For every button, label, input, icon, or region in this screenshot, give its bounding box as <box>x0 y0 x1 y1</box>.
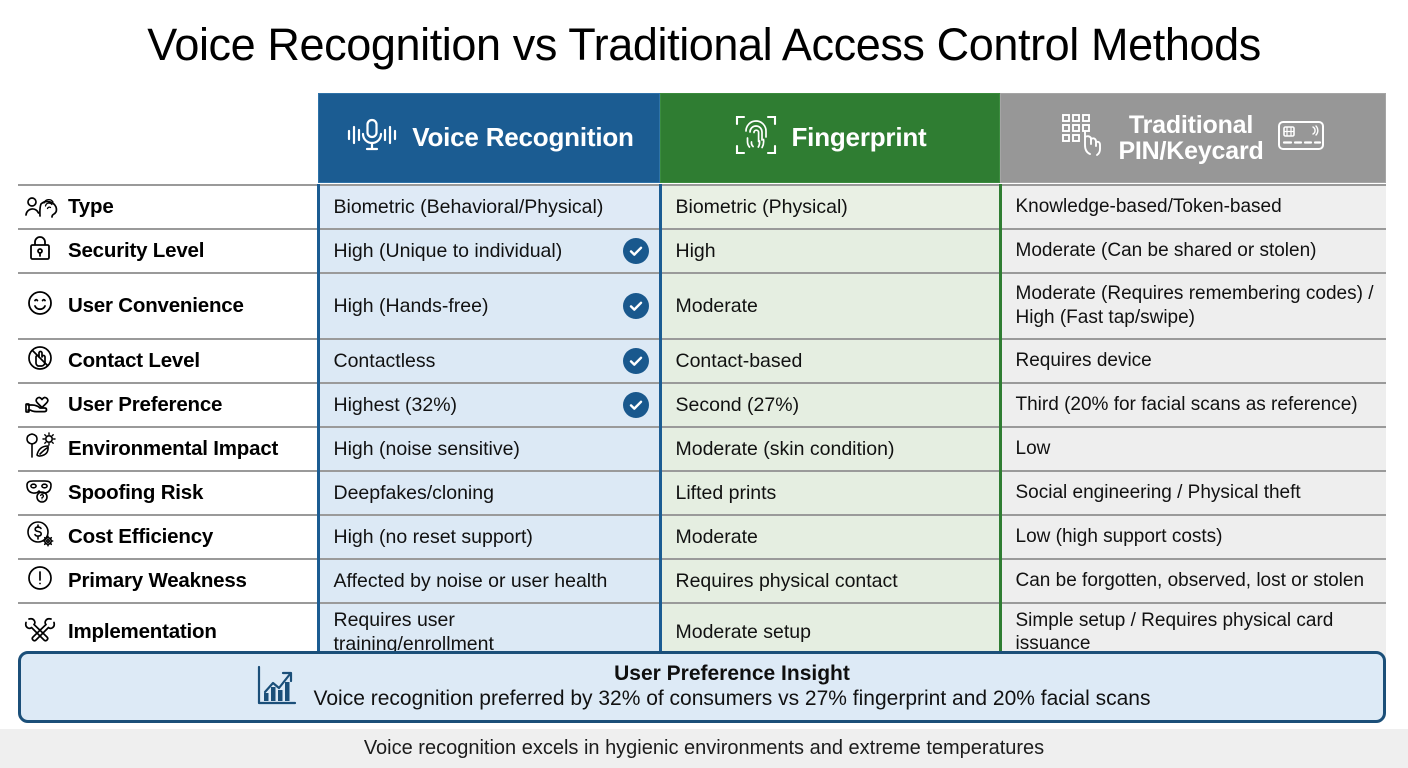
comparison-table-wrapper: Voice Recognition <box>18 92 1386 663</box>
fingerprint-scan-icon <box>733 112 779 165</box>
cell-text: Can be forgotten, observed, lost or stol… <box>1016 570 1365 591</box>
row-label: Environmental Impact <box>68 437 278 461</box>
row-label: Security Level <box>68 239 204 263</box>
cell-traditional: Low <box>1000 427 1386 471</box>
cell-text: Moderate (skin condition) <box>676 438 895 460</box>
user-preference-insight-banner: User Preference Insight Voice recognitio… <box>18 651 1386 723</box>
bar-chart-growth-icon <box>254 662 300 713</box>
row-label: Spoofing Risk <box>68 481 203 505</box>
cell-voice: High (no reset support) <box>318 515 660 559</box>
insight-subtitle: Voice recognition preferred by 32% of co… <box>314 687 1151 710</box>
row-label-cell: Primary Weakness <box>18 559 318 603</box>
row-label: Type <box>68 195 114 219</box>
table-header: Voice Recognition <box>18 92 1386 185</box>
comparison-table: Voice Recognition <box>18 92 1386 663</box>
table-row: User Convenience High (Hands-free) Moder… <box>18 273 1386 339</box>
infographic-page: Voice Recognition vs Traditional Access … <box>0 0 1408 768</box>
footer-bar: Voice recognition excels in hygienic env… <box>0 729 1408 768</box>
mask-question-icon <box>24 475 58 511</box>
row-label-cell: Contact Level <box>18 339 318 383</box>
cell-text: High (Hands-free) <box>334 294 489 318</box>
cell-fingerprint: Requires physical contact <box>660 559 1000 603</box>
cell-text: High (noise sensitive) <box>334 437 520 461</box>
table-row: User Preference Highest (32%) Second (27… <box>18 383 1386 427</box>
keypad-touch-icon <box>1058 111 1106 166</box>
cell-fingerprint: Second (27%) <box>660 383 1000 427</box>
check-badge <box>623 392 649 418</box>
cell-text: High (no reset support) <box>334 525 533 549</box>
cell-text: Moderate <box>676 526 758 548</box>
header-label-traditional: Traditional PIN/Keycard <box>1118 112 1263 165</box>
wrench-screwdriver-icon <box>24 614 58 650</box>
cell-text: Requires device <box>1016 350 1152 371</box>
cell-text: Contactless <box>334 349 436 373</box>
cell-text: Third (20% for facial scans as reference… <box>1016 394 1358 415</box>
cell-text: High (Unique to individual) <box>334 239 563 263</box>
person-fingerprint-head-icon <box>24 189 58 225</box>
page-title: Voice Recognition vs Traditional Access … <box>0 0 1408 67</box>
cell-text: Affected by noise or user health <box>334 569 608 593</box>
cell-voice: High (Hands-free) <box>318 273 660 339</box>
cell-text: High <box>676 240 716 262</box>
table-row: Environmental Impact High (noise sensiti… <box>18 427 1386 471</box>
cell-traditional: Moderate (Requires remembering codes) / … <box>1000 273 1386 339</box>
check-badge <box>623 293 649 319</box>
cell-fingerprint: High <box>660 229 1000 273</box>
cell-traditional: Knowledge-based/Token-based <box>1000 185 1386 229</box>
header-cell-traditional[interactable]: Traditional PIN/Keycard <box>1000 92 1386 185</box>
cell-text: Lifted prints <box>676 482 777 504</box>
cell-text: Requires physical contact <box>676 570 898 592</box>
cell-text: Highest (32%) <box>334 393 458 417</box>
cell-text: Social engineering / Physical theft <box>1016 482 1301 503</box>
dollar-gear-icon <box>24 519 58 555</box>
cell-fingerprint: Moderate (skin condition) <box>660 427 1000 471</box>
header-label-traditional-line1: Traditional <box>1129 111 1253 139</box>
row-label: Implementation <box>68 620 217 644</box>
cell-voice: Deepfakes/cloning <box>318 471 660 515</box>
header-row: Voice Recognition <box>18 92 1386 185</box>
header-cell-blank <box>18 92 318 185</box>
cell-text: Second (27%) <box>676 394 800 416</box>
cell-traditional: Requires device <box>1000 339 1386 383</box>
table-row: Spoofing Risk Deepfakes/cloning Lifted p… <box>18 471 1386 515</box>
smiley-face-icon <box>24 288 58 324</box>
row-label-cell: Type <box>18 185 318 229</box>
check-badge <box>623 348 649 374</box>
no-touch-hand-icon <box>24 343 58 379</box>
cell-traditional: Third (20% for facial scans as reference… <box>1000 383 1386 427</box>
check-badge <box>623 238 649 264</box>
cell-traditional: Low (high support costs) <box>1000 515 1386 559</box>
leaf-sun-icon <box>24 431 58 467</box>
table-row: Cost Efficiency High (no reset support) … <box>18 515 1386 559</box>
cell-voice: Contactless <box>318 339 660 383</box>
hand-heart-icon <box>24 387 58 423</box>
row-label-cell: Security Level <box>18 229 318 273</box>
header-cell-fingerprint[interactable]: Fingerprint <box>660 92 1000 185</box>
row-label-cell: Environmental Impact <box>18 427 318 471</box>
cell-fingerprint: Moderate <box>660 273 1000 339</box>
cell-traditional: Can be forgotten, observed, lost or stol… <box>1000 559 1386 603</box>
header-label-traditional-line2: PIN/Keycard <box>1118 137 1263 165</box>
cell-traditional: Moderate (Can be shared or stolen) <box>1000 229 1386 273</box>
microphone-waveform-icon <box>344 115 400 162</box>
cell-voice: Highest (32%) <box>318 383 660 427</box>
cell-text: Moderate <box>676 295 758 317</box>
cell-fingerprint: Moderate <box>660 515 1000 559</box>
cell-text: Moderate (Requires remembering codes) / … <box>1016 283 1374 328</box>
cell-text: Biometric (Physical) <box>676 196 848 218</box>
cell-voice: High (noise sensitive) <box>318 427 660 471</box>
cell-text: Low <box>1016 438 1051 459</box>
cell-fingerprint: Biometric (Physical) <box>660 185 1000 229</box>
cell-voice: Biometric (Behavioral/Physical) <box>318 185 660 229</box>
cell-text: Simple setup / Requires physical card is… <box>1016 610 1334 655</box>
row-label-cell: Cost Efficiency <box>18 515 318 559</box>
cell-text: Knowledge-based/Token-based <box>1016 196 1282 217</box>
row-label-cell: User Convenience <box>18 273 318 339</box>
header-label-fingerprint: Fingerprint <box>791 124 926 151</box>
header-cell-voice[interactable]: Voice Recognition <box>318 92 660 185</box>
row-label-cell: User Preference <box>18 383 318 427</box>
footer-note: Voice recognition excels in hygienic env… <box>364 737 1044 760</box>
padlock-icon <box>24 233 58 269</box>
table-row: Security Level High (Unique to individua… <box>18 229 1386 273</box>
cell-voice: Affected by noise or user health <box>318 559 660 603</box>
cell-fingerprint: Contact-based <box>660 339 1000 383</box>
cell-text: Moderate (Can be shared or stolen) <box>1016 240 1317 261</box>
table-row: Contact Level Contactless Contact-based <box>18 339 1386 383</box>
cell-text: Moderate setup <box>676 621 812 643</box>
exclamation-circle-icon <box>24 563 58 599</box>
cell-text: Contact-based <box>676 350 803 372</box>
keycard-icon <box>1276 117 1328 160</box>
cell-fingerprint: Lifted prints <box>660 471 1000 515</box>
row-label-cell: Spoofing Risk <box>18 471 318 515</box>
insight-text-block: User Preference Insight Voice recognitio… <box>314 662 1151 711</box>
table-row: Type Biometric (Behavioral/Physical) Bio… <box>18 185 1386 229</box>
cell-text: Deepfakes/cloning <box>334 481 494 505</box>
row-label: User Convenience <box>68 294 244 318</box>
cell-voice: High (Unique to individual) <box>318 229 660 273</box>
header-label-voice: Voice Recognition <box>412 124 633 151</box>
row-label: User Preference <box>68 393 222 417</box>
cell-text: Biometric (Behavioral/Physical) <box>334 195 604 219</box>
row-label: Primary Weakness <box>68 569 247 593</box>
table-row: Primary Weakness Affected by noise or us… <box>18 559 1386 603</box>
cell-text: Requires user training/enrollment <box>334 608 615 657</box>
cell-traditional: Social engineering / Physical theft <box>1000 471 1386 515</box>
table-body: Type Biometric (Behavioral/Physical) Bio… <box>18 185 1386 662</box>
cell-text: Low (high support costs) <box>1016 526 1223 547</box>
insight-title: User Preference Insight <box>614 662 850 685</box>
row-label: Cost Efficiency <box>68 525 213 549</box>
row-label: Contact Level <box>68 349 200 373</box>
